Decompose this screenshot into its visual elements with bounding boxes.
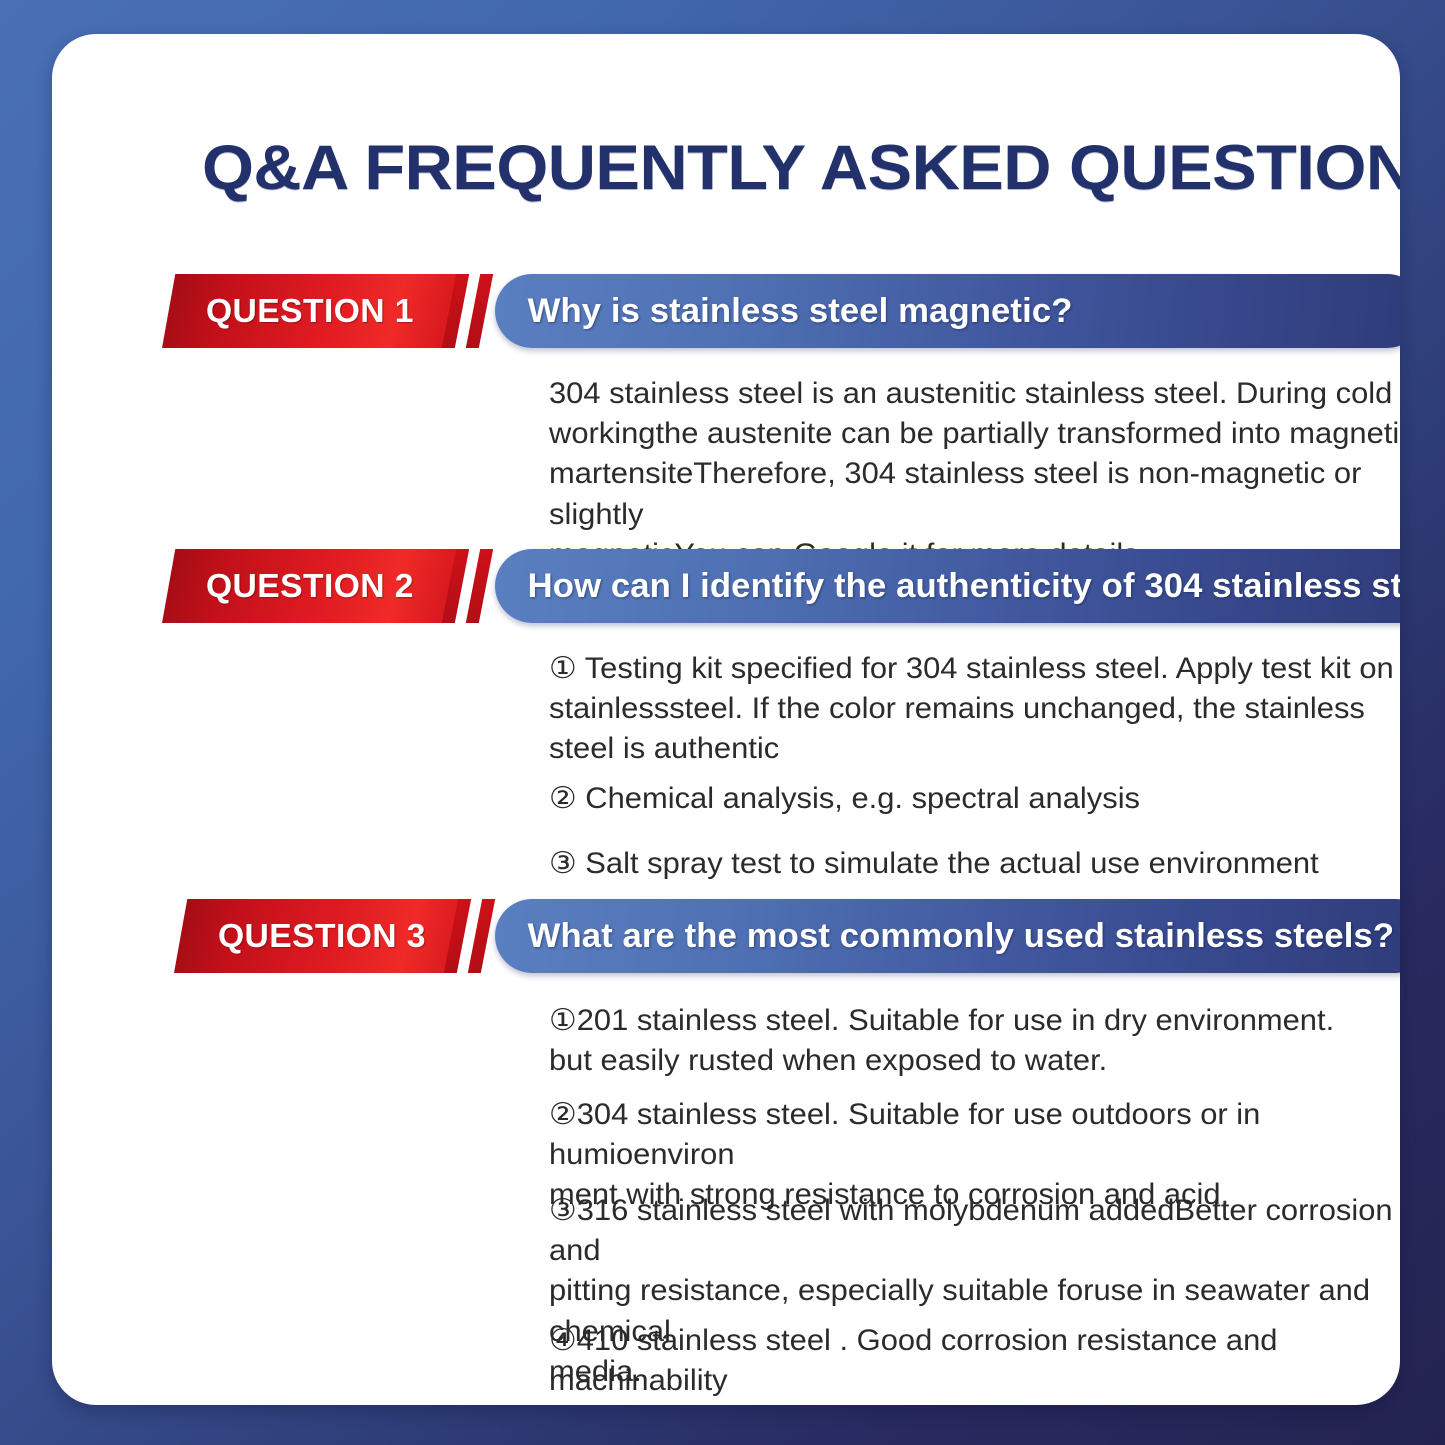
separator-slashes-1 bbox=[445, 274, 497, 348]
question-badge-2: QUESTION 2 bbox=[162, 549, 457, 623]
slash-icon bbox=[444, 899, 471, 973]
answer-text-2-1: ② Chemical analysis, e.g. spectral analy… bbox=[549, 779, 1140, 819]
answer-text-2-2: ③ Salt spray test to simulate the actual… bbox=[549, 844, 1319, 884]
slash-icon bbox=[466, 274, 493, 348]
question-badge-3: QUESTION 3 bbox=[174, 899, 469, 973]
separator-slashes-3 bbox=[447, 899, 499, 973]
faq-item-1: QUESTION 1 Why is stainless steel magnet… bbox=[52, 274, 1400, 352]
question-row-3: QUESTION 3 What are the most commonly us… bbox=[52, 899, 1400, 977]
faq-item-3: QUESTION 3 What are the most commonly us… bbox=[52, 899, 1400, 977]
slash-icon bbox=[442, 549, 469, 623]
answer-text-2-0: ① Testing kit specified for 304 stainles… bbox=[549, 649, 1394, 770]
page-background: Q&A FREQUENTLY ASKED QUESTIONS QUESTION … bbox=[0, 0, 1445, 1445]
answer-text-1-0: 304 stainless steel is an austenitic sta… bbox=[549, 374, 1400, 575]
question-text-3: What are the most commonly used stainles… bbox=[495, 917, 1394, 956]
question-row-1: QUESTION 1 Why is stainless steel magnet… bbox=[52, 274, 1400, 352]
question-text-2: How can I identify the authenticity of 3… bbox=[495, 567, 1400, 606]
slash-icon bbox=[442, 274, 469, 348]
question-badge-label-1: QUESTION 1 bbox=[206, 292, 414, 330]
question-pill-1[interactable]: Why is stainless steel magnetic? bbox=[495, 274, 1400, 348]
faq-card: Q&A FREQUENTLY ASKED QUESTIONS QUESTION … bbox=[52, 34, 1400, 1405]
answer-text-3-3: ④410 stainless steel . Good corrosion re… bbox=[549, 1321, 1400, 1405]
question-pill-3[interactable]: What are the most commonly used stainles… bbox=[495, 899, 1400, 973]
question-badge-1: QUESTION 1 bbox=[162, 274, 457, 348]
question-badge-label-2: QUESTION 2 bbox=[206, 567, 414, 605]
slash-icon bbox=[468, 899, 495, 973]
question-text-1: Why is stainless steel magnetic? bbox=[495, 292, 1072, 331]
slash-icon bbox=[466, 549, 493, 623]
page-title: Q&A FREQUENTLY ASKED QUESTIONS bbox=[202, 132, 1400, 204]
question-badge-label-3: QUESTION 3 bbox=[218, 917, 426, 955]
separator-slashes-2 bbox=[445, 549, 497, 623]
question-row-2: QUESTION 2 How can I identify the authen… bbox=[52, 549, 1400, 627]
question-pill-2[interactable]: How can I identify the authenticity of 3… bbox=[495, 549, 1400, 623]
answer-text-3-0: ①201 stainless steel. Suitable for use i… bbox=[549, 1001, 1334, 1081]
faq-item-2: QUESTION 2 How can I identify the authen… bbox=[52, 549, 1400, 627]
